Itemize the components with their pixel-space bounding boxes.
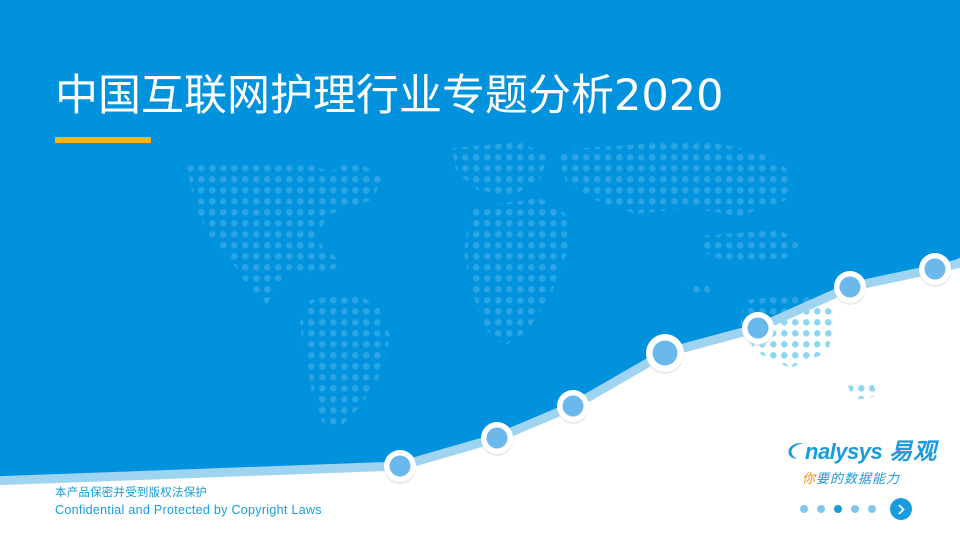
slide-pager[interactable] (800, 498, 912, 520)
title-block: 中国互联网护理行业专题分析2020 (55, 72, 723, 143)
chevron-right-icon (896, 504, 907, 515)
logo-cn-name: 易观 (889, 432, 937, 466)
pager-dot-1[interactable] (800, 505, 808, 513)
analysys-swoosh-icon (786, 441, 806, 461)
logo-row: nalysys 易观 (786, 432, 946, 466)
pager-dot-5[interactable] (868, 505, 876, 513)
data-point-marker (742, 312, 774, 346)
data-point-marker (481, 422, 513, 456)
copyright-notice-cn: 本产品保密并受到版权法保护 (55, 484, 322, 501)
pager-dot-3[interactable] (834, 505, 842, 513)
analysys-logo: nalysys 易观 你要的数据能力 (786, 432, 946, 487)
pager-dot-4[interactable] (851, 505, 859, 513)
data-point-marker (646, 334, 684, 374)
data-point-marker (919, 253, 951, 287)
title-slide: 中国互联网护理行业专题分析2020 本产品保密并受到版权法保护 Confiden… (0, 0, 960, 540)
next-slide-button[interactable] (890, 498, 912, 520)
page-title: 中国互联网护理行业专题分析2020 (55, 72, 723, 121)
data-point-marker (384, 450, 416, 484)
logo-tagline-rest: 要的数据能力 (816, 472, 900, 487)
logo-tagline: 你要的数据能力 (802, 468, 946, 487)
copyright-notice: 本产品保密并受到版权法保护 Confidential and Protected… (55, 484, 322, 520)
data-point-marker (557, 390, 589, 424)
title-accent-bar (55, 137, 151, 143)
copyright-notice-en: Confidential and Protected by Copyright … (55, 501, 322, 520)
logo-tagline-accent: 你 (802, 472, 816, 487)
logo-wordmark: nalysys (805, 439, 882, 464)
logo-wordmark-wrap: nalysys (786, 439, 882, 465)
pager-dot-2[interactable] (817, 505, 825, 513)
data-point-marker (834, 271, 866, 305)
